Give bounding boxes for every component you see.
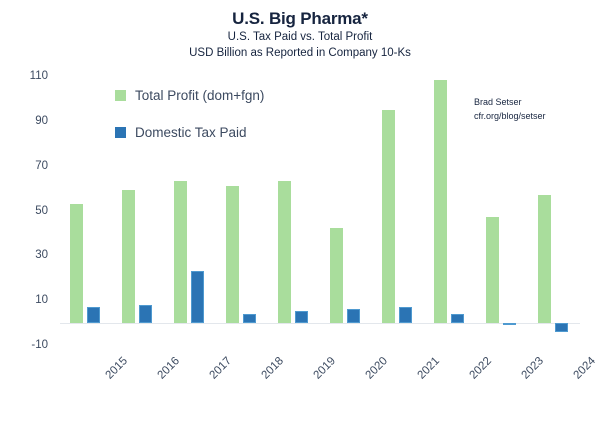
bar-domestic-tax[interactable] — [347, 309, 360, 322]
x-axis-tick-label: 2017 — [207, 355, 234, 382]
bar-group — [268, 76, 320, 345]
bar-domestic-tax[interactable] — [87, 307, 100, 323]
chart-plot-frame: 1109070503010-10 20152016201720182019202… — [0, 0, 600, 427]
bar-group — [476, 76, 528, 345]
bar-total-profit[interactable] — [70, 204, 83, 323]
x-axis-tick-label: 2024 — [571, 355, 598, 382]
bar-total-profit[interactable] — [382, 110, 395, 323]
bar-total-profit[interactable] — [538, 195, 551, 323]
bar-domestic-tax[interactable] — [243, 314, 256, 323]
bar-group — [424, 76, 476, 345]
y-axis-tick-label: 10 — [35, 294, 48, 306]
y-axis-tick-label: 70 — [35, 160, 48, 172]
bar-domestic-tax[interactable] — [139, 305, 152, 323]
bar-total-profit[interactable] — [174, 181, 187, 322]
x-axis-tick-label: 2016 — [155, 355, 182, 382]
y-axis-tick-label: -10 — [31, 339, 48, 351]
x-axis: 2015201620172018201920202021202220232024 — [60, 345, 580, 415]
plot-area — [60, 76, 580, 345]
y-axis: 1109070503010-10 — [0, 76, 54, 345]
bar-domestic-tax[interactable] — [399, 307, 412, 323]
bar-total-profit[interactable] — [226, 186, 239, 323]
bar-group — [528, 76, 580, 345]
bar-group — [216, 76, 268, 345]
x-axis-tick-label: 2021 — [415, 355, 442, 382]
bar-total-profit[interactable] — [434, 80, 447, 322]
bar-domestic-tax[interactable] — [555, 323, 568, 332]
bar-group — [164, 76, 216, 345]
bar-group — [60, 76, 112, 345]
x-axis-tick-label: 2018 — [259, 355, 286, 382]
bar-group — [372, 76, 424, 345]
bar-domestic-tax[interactable] — [451, 314, 464, 323]
bar-domestic-tax[interactable] — [295, 311, 308, 322]
bar-total-profit[interactable] — [122, 190, 135, 322]
x-axis-tick-label: 2022 — [467, 355, 494, 382]
bar-domestic-tax[interactable] — [191, 271, 204, 323]
bar-group — [112, 76, 164, 345]
bar-total-profit[interactable] — [278, 181, 291, 322]
bar-group — [320, 76, 372, 345]
x-axis-tick-label: 2020 — [363, 355, 390, 382]
y-axis-tick-label: 90 — [35, 115, 48, 127]
bar-total-profit[interactable] — [330, 228, 343, 322]
x-axis-tick-label: 2015 — [103, 355, 130, 382]
bar-domestic-tax[interactable] — [503, 323, 516, 325]
y-axis-tick-label: 50 — [35, 205, 48, 217]
x-axis-tick-label: 2023 — [519, 355, 546, 382]
y-axis-tick-label: 30 — [35, 249, 48, 261]
x-axis-tick-label: 2019 — [311, 355, 338, 382]
bar-total-profit[interactable] — [486, 217, 499, 322]
y-axis-tick-label: 110 — [30, 70, 48, 82]
